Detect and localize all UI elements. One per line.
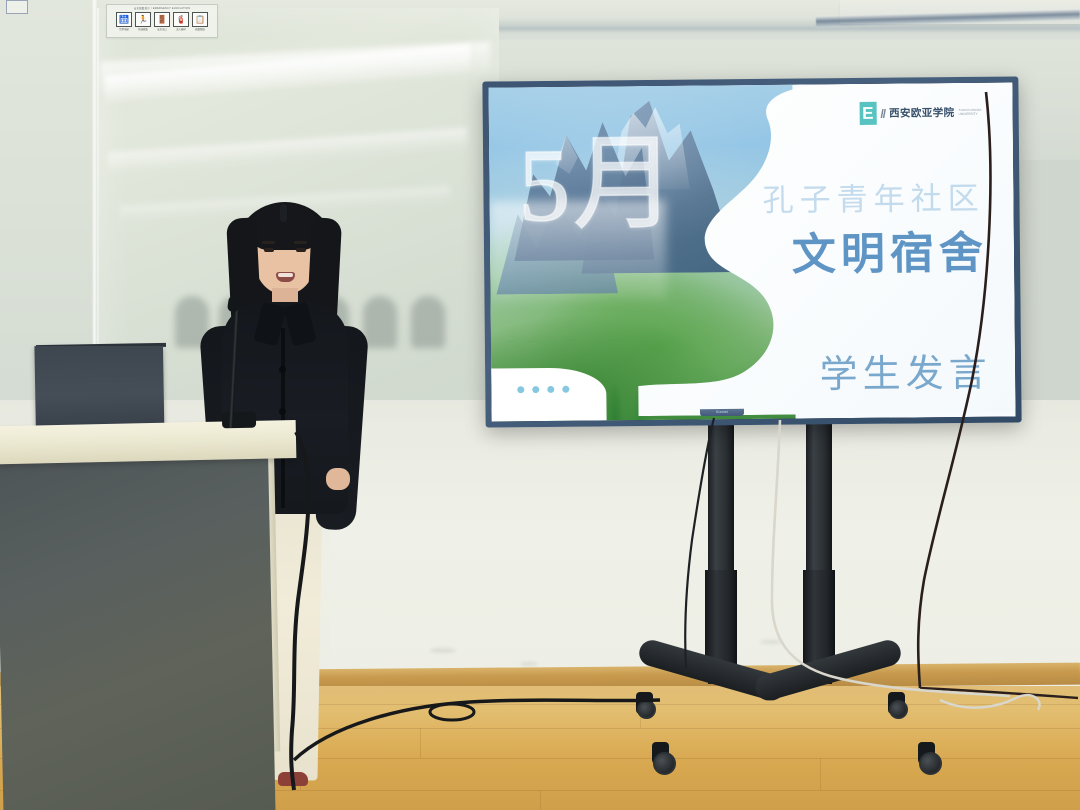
- jacket-button: [279, 366, 286, 373]
- safety-cell-caption: 禁用电梯: [119, 28, 129, 32]
- slide-title: 文明宿舍: [791, 216, 988, 282]
- display-panel: 5月 孔子青年社区 文明宿舍 学生发言 E // 西安欧亚学院 XI'AN EU…: [488, 82, 1015, 421]
- tv-stand-base: [634, 672, 906, 734]
- wall-placard: [6, 0, 28, 14]
- logo-e-mark: E: [859, 102, 876, 125]
- slide-subtitle: 孔子青年社区: [762, 173, 984, 220]
- caster-wheel-rear-right: [889, 700, 908, 719]
- university-logo: E // 西安欧亚学院 XI'AN EURASIA UNIVERSITY: [859, 101, 986, 125]
- safety-sign-cell: 🧯 灭火器材: [173, 12, 189, 32]
- safety-cell-caption: 疏散路线: [195, 28, 205, 32]
- eyebrow-right: [294, 241, 307, 244]
- caster-wheel-front-right: [919, 752, 942, 775]
- safety-cell-caption: 快速疏散: [138, 28, 148, 32]
- safety-sign-icon-row: 🛗 禁用电梯 🏃 快速疏散 🚪 安全出口 🧯 灭火器材 📋 疏散路线: [116, 12, 208, 32]
- safety-sign-cell: 🛗 禁用电梯: [116, 12, 132, 32]
- safety-sign-cell: 📋 疏散路线: [192, 12, 208, 32]
- safety-cell-caption: 灭火器材: [176, 28, 186, 32]
- safety-sign-cell: 🚪 安全出口: [154, 12, 170, 32]
- slide-white-wave-bottom: [491, 367, 607, 422]
- podium-body: [0, 452, 276, 810]
- caster-wheel-rear-left: [637, 700, 656, 719]
- display-brand-strip: Xiaomi: [700, 409, 744, 416]
- slide-dot: [532, 386, 539, 393]
- safety-sign-header: 安全疏散指示 / EMERGENCY EVACUATION: [134, 7, 190, 11]
- evacuate-running-icon: 🏃: [135, 12, 151, 27]
- safety-evacuation-sign: 安全疏散指示 / EMERGENCY EVACUATION 🛗 禁用电梯 🏃 快…: [106, 4, 218, 38]
- safety-sign-cell: 🏃 快速疏散: [135, 12, 151, 32]
- logo-name-en: XI'AN EURASIA UNIVERSITY: [958, 109, 986, 116]
- laptop[interactable]: [34, 346, 164, 428]
- caster-wheel-front-left: [653, 752, 676, 775]
- hand-right: [326, 468, 350, 490]
- eye-right: [296, 248, 306, 252]
- jacket-button: [279, 408, 286, 415]
- slide-dot: [562, 385, 569, 392]
- classroom-photo-scene: 安全疏散指示 / EMERGENCY EVACUATION 🛗 禁用电梯 🏃 快…: [0, 0, 1080, 810]
- slide-dot: [517, 386, 524, 393]
- presentation-slide: 5月 孔子青年社区 文明宿舍 学生发言 E // 西安欧亚学院 XI'AN EU…: [488, 82, 1015, 421]
- display-brand-label: Xiaomi: [700, 409, 744, 416]
- logo-name-cn: 西安欧亚学院: [889, 105, 955, 121]
- jacket-placket: [281, 328, 285, 508]
- slide-month-label: 5月: [518, 136, 679, 236]
- safety-cell-caption: 安全出口: [157, 28, 167, 32]
- eyebrow-left: [262, 241, 275, 244]
- slide-dot-decoration: [517, 385, 569, 392]
- microphone-base: [222, 412, 256, 429]
- wall-scuff: [760, 640, 782, 644]
- exit-door-icon: 🚪: [154, 12, 170, 27]
- slide-dot: [547, 386, 554, 393]
- presentation-display[interactable]: 5月 孔子青年社区 文明宿舍 学生发言 E // 西安欧亚学院 XI'AN EU…: [482, 76, 1021, 427]
- evacuation-map-icon: 📋: [192, 12, 208, 27]
- wall-scuff: [430, 648, 456, 653]
- fire-extinguisher-icon: 🧯: [173, 12, 189, 27]
- logo-slash-icon: //: [880, 107, 885, 121]
- wall-scuff: [520, 662, 538, 666]
- eye-left: [264, 248, 274, 252]
- hair-part: [280, 204, 287, 222]
- slide-footer-label: 学生发言: [819, 342, 992, 399]
- no-elevator-icon: 🛗: [116, 12, 132, 27]
- teeth: [278, 273, 293, 277]
- shoe: [278, 772, 308, 786]
